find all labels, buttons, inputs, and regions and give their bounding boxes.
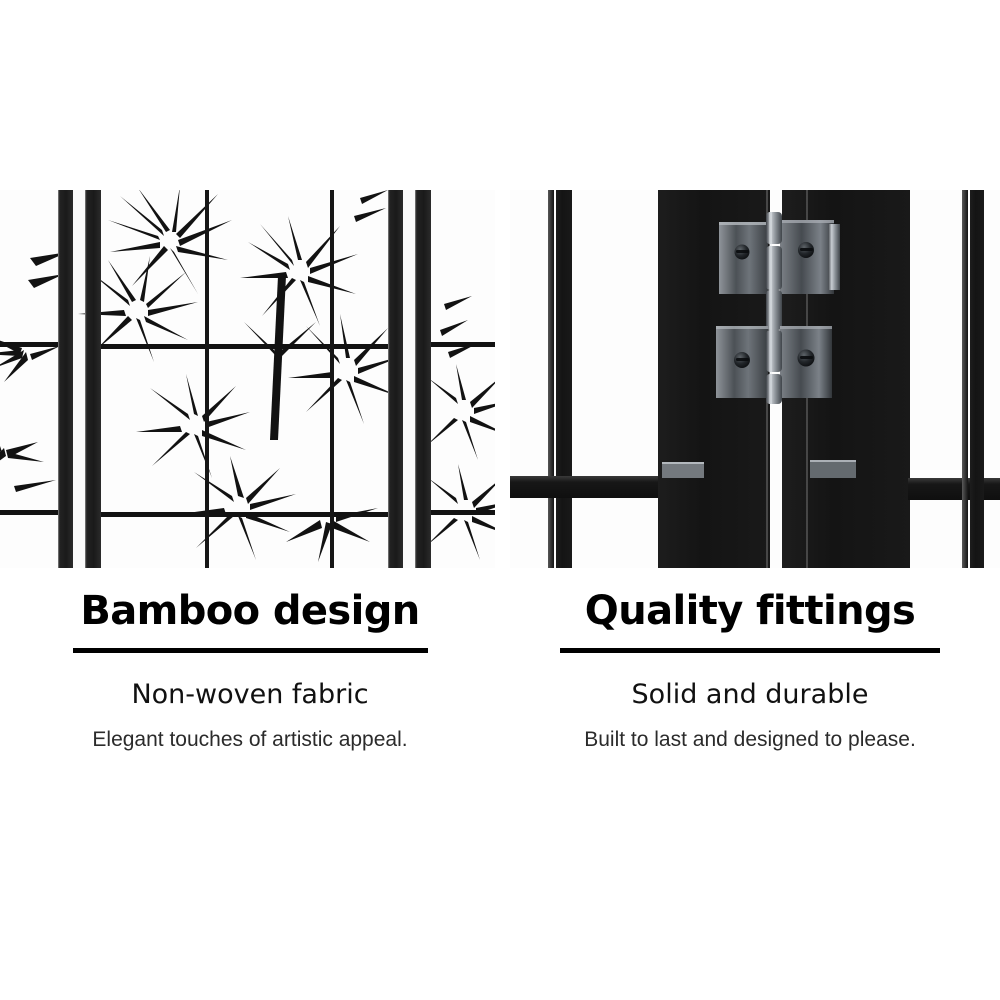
frame-post — [85, 190, 101, 568]
panel-description: Elegant touches of artistic appeal. — [0, 728, 500, 752]
lattice-rail — [100, 344, 390, 349]
headline-underline — [560, 648, 940, 653]
panel-subheading: Solid and durable — [500, 679, 1000, 710]
frame-post — [58, 190, 73, 568]
panel-description: Built to last and designed to please. — [500, 728, 1000, 752]
panel-headline: Bamboo design — [0, 590, 500, 632]
frame-post — [388, 190, 403, 568]
panel-subheading: Non-woven fabric — [0, 679, 500, 710]
lattice-rail — [0, 510, 58, 515]
metal-hinge-icon — [510, 190, 1000, 568]
hinge-barrel — [766, 212, 782, 330]
feature-infographic: Bamboo design Non-woven fabric Elegant t… — [0, 0, 1000, 1000]
hinge-lower-brackets — [662, 460, 856, 478]
lattice-rail — [0, 342, 58, 347]
lattice-mullion — [205, 190, 209, 568]
product-photo-quality-fittings — [510, 190, 1000, 568]
feature-panel-quality-fittings: Quality fittings Solid and durable Built… — [500, 0, 1000, 1000]
lattice-rail — [100, 512, 390, 517]
headline-underline — [73, 648, 428, 653]
lattice-rail — [430, 342, 495, 347]
hinge-barrel-lower — [766, 330, 782, 404]
hinge-leaf-upper-right — [780, 220, 840, 294]
frame-post — [415, 190, 431, 568]
lattice-mullion — [330, 190, 334, 568]
feature-panel-bamboo-design: Bamboo design Non-woven fabric Elegant t… — [0, 0, 500, 1000]
product-photo-bamboo-design — [0, 190, 495, 568]
hinge-leaf-lower-right — [780, 326, 832, 398]
hinge-leaf-upper-left — [719, 222, 768, 294]
hinge-closeup-illustration — [510, 190, 1000, 568]
feature-text-bamboo-design: Bamboo design Non-woven fabric Elegant t… — [0, 590, 500, 752]
bamboo-leaf-spray-icon — [0, 250, 90, 550]
bamboo-leaf-spray-icon — [426, 290, 495, 568]
lattice-rail — [430, 510, 495, 515]
bamboo-screen-illustration — [0, 190, 495, 568]
feature-text-quality-fittings: Quality fittings Solid and durable Built… — [500, 590, 1000, 752]
panel-grid: Bamboo design Non-woven fabric Elegant t… — [0, 0, 1000, 1000]
hinge-leaf-lower-left — [716, 326, 768, 398]
panel-headline: Quality fittings — [500, 590, 1000, 632]
